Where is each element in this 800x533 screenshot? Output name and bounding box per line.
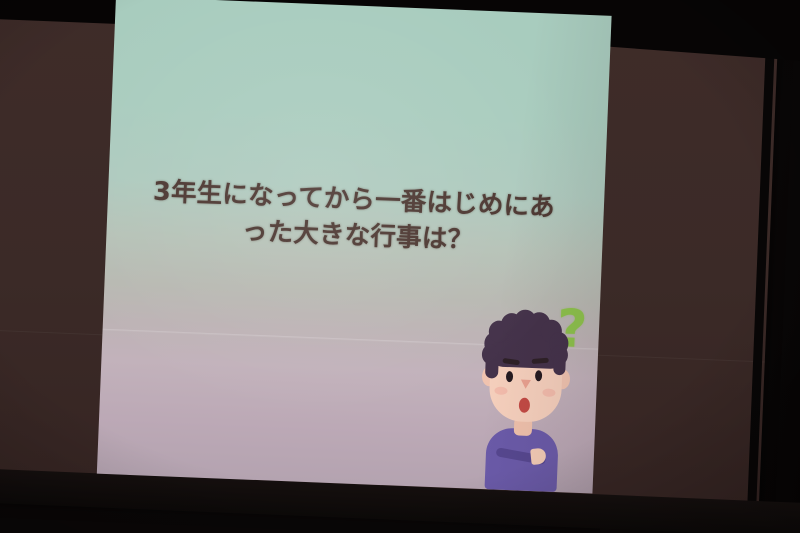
nose [521, 380, 531, 389]
slide-question-text: 3年生になってから一番はじめにあ った大きな行事は？ [106, 172, 605, 264]
projected-slide: 3年生になってから一番はじめにあ った大きな行事は？ ? [97, 0, 612, 494]
boy-illustration: ? [465, 294, 601, 494]
sideburn-right [553, 353, 566, 375]
photo-scene: 3年生になってから一番はじめにあ った大きな行事は？ ? [0, 0, 800, 533]
sideburn-left [485, 352, 499, 379]
